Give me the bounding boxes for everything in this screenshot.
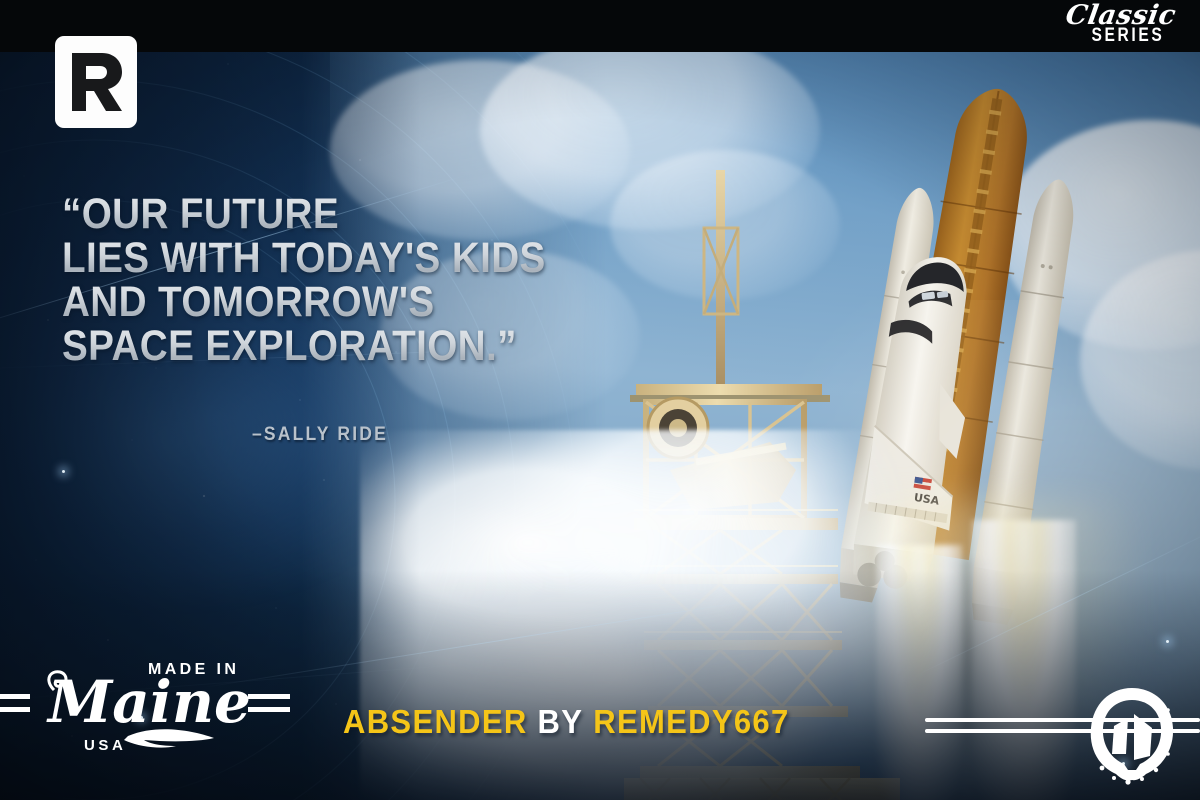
credit-product-name: ABSENDER (343, 703, 528, 740)
brand-logo[interactable] (55, 36, 137, 128)
quote-block: “OUR FUTURE LIES WITH TODAY'S KIDS AND T… (62, 192, 682, 368)
credit-author-name: REMEDY667 (593, 703, 789, 740)
svg-text:USA: USA (84, 737, 126, 754)
grunge-circle-emblem (1084, 684, 1180, 788)
quote-line: AND TOMORROW'S (62, 280, 620, 324)
quote-line: SPACE EXPLORATION.” (62, 324, 620, 368)
quote-line: LIES WITH TODAY'S KIDS (62, 236, 620, 280)
credit-line: ABSENDER BY REMEDY667 (343, 703, 790, 741)
svg-text:Maine: Maine (46, 668, 251, 736)
sparkle (1166, 640, 1169, 643)
quote-line: “OUR FUTURE (62, 192, 620, 236)
top-black-bar (0, 0, 1200, 52)
quote-attribution: –SALLY RIDE (252, 424, 388, 446)
light-streak (204, 593, 797, 688)
sparkle (62, 470, 65, 473)
light-streak (917, 526, 1200, 676)
credit-by-word: BY (538, 703, 584, 740)
classic-series-badge: Classic SERIES (1066, 2, 1176, 45)
poster-canvas: USA (0, 0, 1200, 800)
made-in-maine-badge: MADE IN Maine USA (0, 650, 290, 760)
series-caps-word: SERIES (1089, 26, 1168, 45)
